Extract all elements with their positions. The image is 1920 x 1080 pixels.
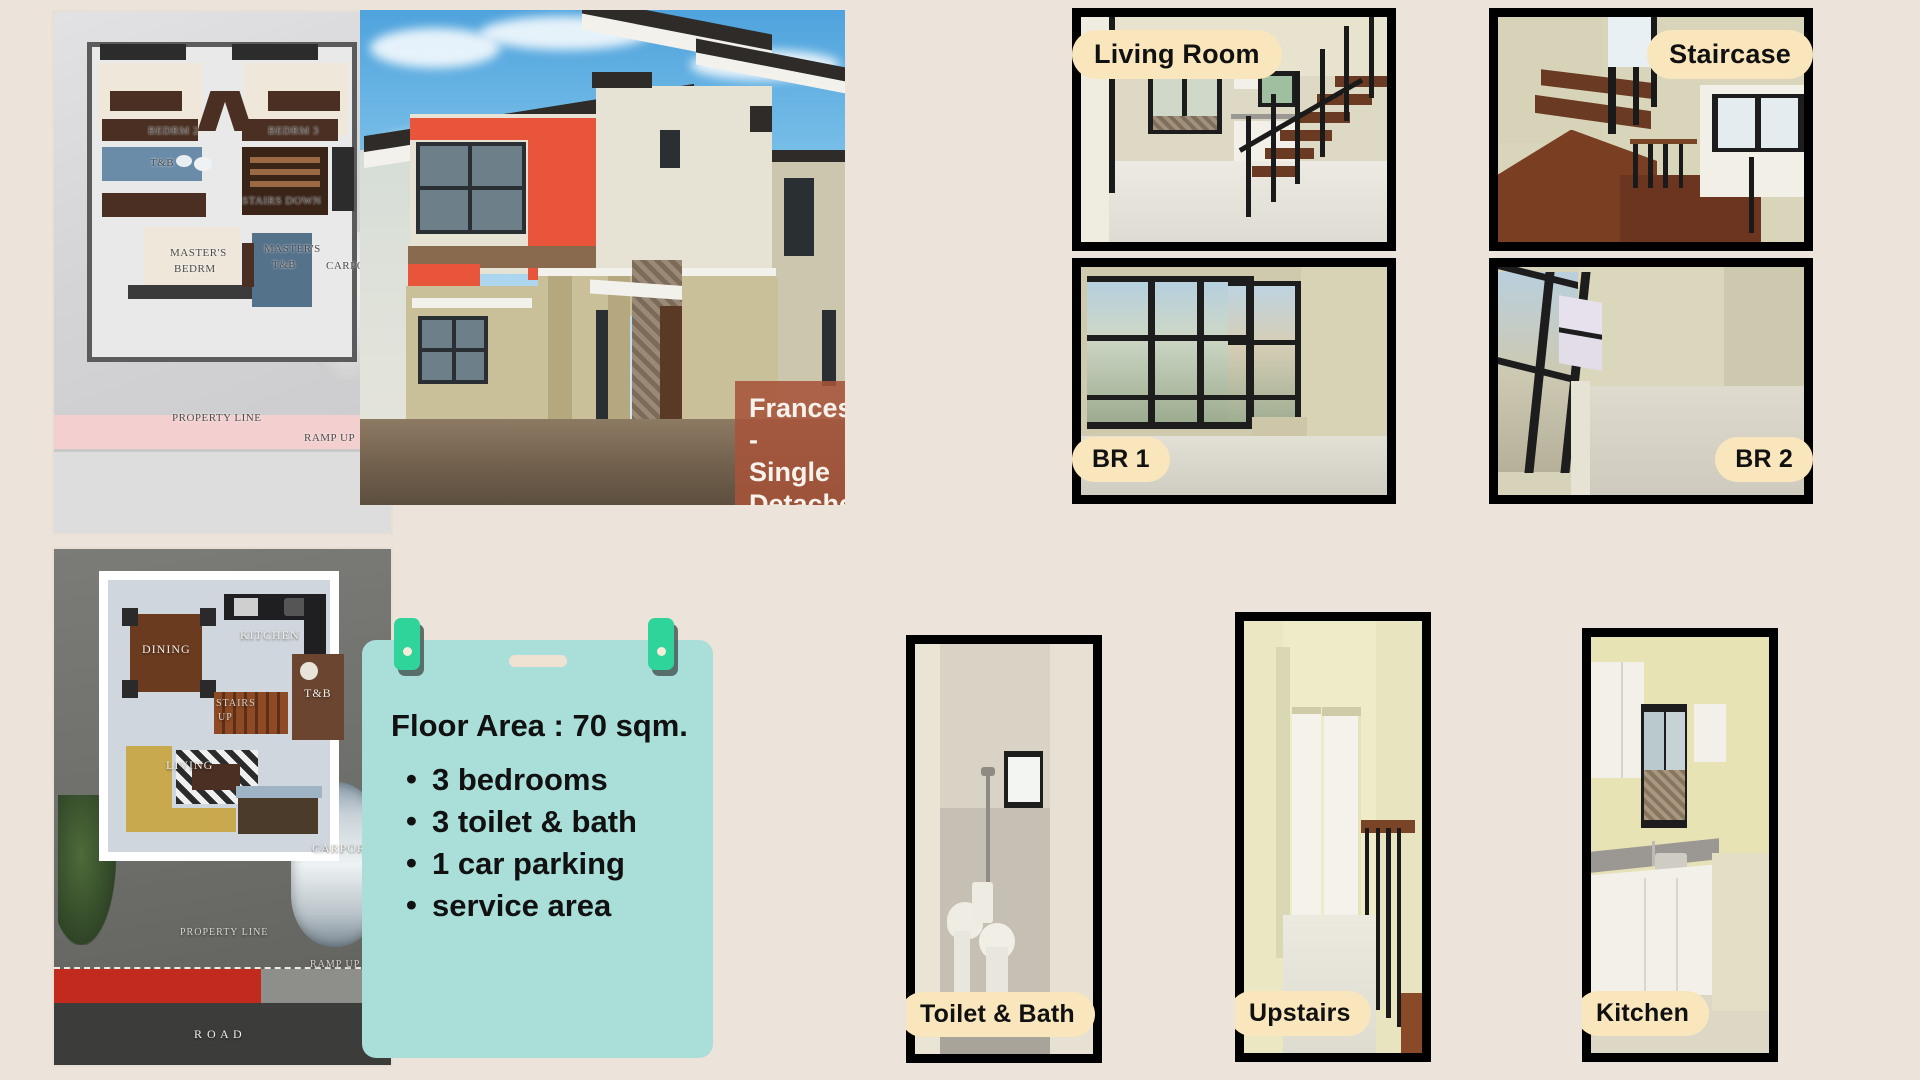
hero-title-line-1: Francesco - [749,393,845,457]
floor-plan-ground-floor[interactable]: DINING KITCHEN T&B LIVING STAIRS UP CARP… [52,547,393,1067]
clip-pin-left [394,618,420,670]
floor-area-label: Floor Area : 70 sqm. [380,706,699,747]
photo-toilet-bath[interactable]: Toilet & Bath [906,635,1102,1063]
hero-title-overlay: Francesco - Single Detached [735,381,845,505]
photo-staircase[interactable]: Staircase [1489,8,1813,251]
badge-kitchen: Kitchen [1582,991,1709,1036]
card-hanger-notch [509,655,567,667]
feature-list: 3 bedrooms 3 toilet & bath 1 car parking… [380,759,699,928]
badge-upstairs: Upstairs [1235,991,1371,1036]
feature-item: service area [402,885,699,927]
property-info-card: Floor Area : 70 sqm. 3 bedrooms 3 toilet… [362,640,713,1058]
hero-title-line-3: Detached [749,489,845,505]
badge-toilet-bath: Toilet & Bath [906,992,1095,1037]
floor-plan-2f-graphic: BEDRM 2 BEDRM 3 T&B STAIRS DOWN MASTER'S… [54,12,391,533]
badge-staircase: Staircase [1647,30,1813,79]
badge-bedroom-2: BR 2 [1715,437,1813,482]
property-collage: BEDRM 2 BEDRM 3 T&B STAIRS DOWN MASTER'S… [0,0,1920,1080]
badge-bedroom-1: BR 1 [1072,437,1170,482]
photo-bedroom-1[interactable]: BR 1 [1072,258,1396,504]
upstairs-image [1244,621,1422,1053]
feature-item: 1 car parking [402,843,699,885]
feature-item: 3 bedrooms [402,759,699,801]
hero-title-line-2: Single [749,457,845,489]
photo-kitchen[interactable]: Kitchen [1582,628,1778,1062]
floor-plan-second-floor[interactable]: BEDRM 2 BEDRM 3 T&B STAIRS DOWN MASTER'S… [52,10,393,535]
clip-pin-right [648,618,674,670]
photo-upstairs[interactable]: Upstairs [1235,612,1431,1062]
badge-living-room: Living Room [1072,30,1282,79]
photo-living-room[interactable]: Living Room [1072,8,1396,251]
hero-house-photo[interactable]: Francesco - Single Detached [360,10,845,505]
feature-item: 3 toilet & bath [402,801,699,843]
floor-plan-gf-graphic: DINING KITCHEN T&B LIVING STAIRS UP CARP… [54,549,391,1065]
photo-bedroom-2[interactable]: BR 2 [1489,258,1813,504]
